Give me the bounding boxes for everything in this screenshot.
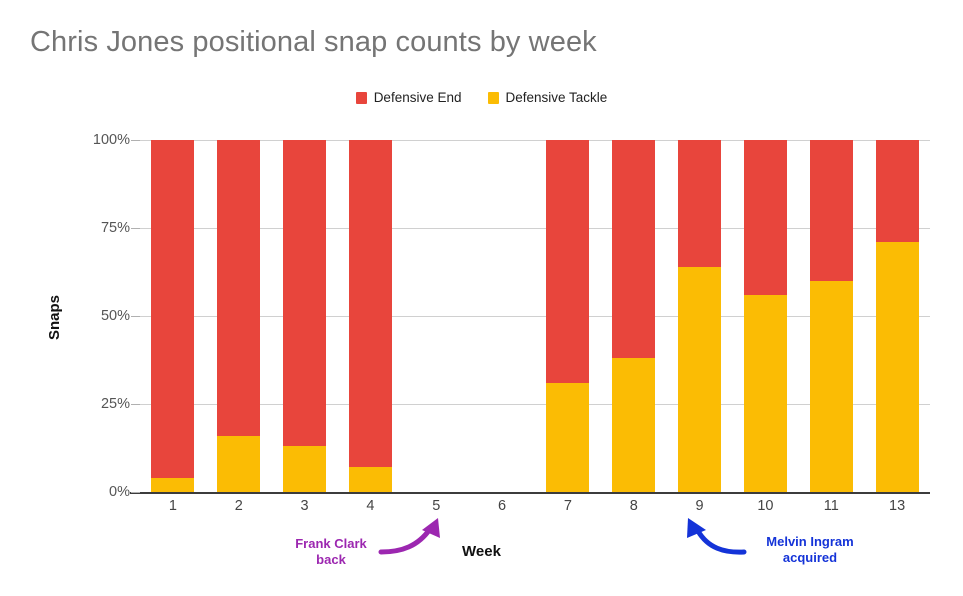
bar-segment-defensive-end[interactable] xyxy=(546,140,589,383)
legend-swatch-defensive-tackle xyxy=(488,92,499,104)
x-axis-tick-label-3: 3 xyxy=(275,498,335,514)
bar-segment-defensive-tackle[interactable] xyxy=(678,267,721,492)
bar-week-7[interactable] xyxy=(546,140,589,492)
y-axis-tick-labels: 0%25%50%75%100% xyxy=(20,140,130,492)
bar-segment-defensive-tackle[interactable] xyxy=(744,295,787,492)
annotation-frank-clark: Frank Clark back xyxy=(283,536,379,569)
bar-segment-defensive-tackle[interactable] xyxy=(283,446,326,492)
bar-segment-defensive-tackle[interactable] xyxy=(876,242,919,492)
legend-item-defensive-tackle[interactable]: Defensive Tackle xyxy=(488,90,608,105)
chart-title: Chris Jones positional snap counts by we… xyxy=(30,26,597,59)
y-axis-tick-label: 75% xyxy=(30,220,130,236)
bar-week-8[interactable] xyxy=(612,140,655,492)
legend-swatch-defensive-end xyxy=(356,92,367,104)
bar-week-9[interactable] xyxy=(678,140,721,492)
bar-segment-defensive-end[interactable] xyxy=(810,140,853,281)
x-axis-tick-label-13: 13 xyxy=(867,498,927,514)
chart-container: Chris Jones positional snap counts by we… xyxy=(0,0,963,596)
x-axis-tick-label-7: 7 xyxy=(538,498,598,514)
bar-segment-defensive-end[interactable] xyxy=(612,140,655,358)
legend-item-defensive-end[interactable]: Defensive End xyxy=(356,90,462,105)
x-axis-tick-label-11: 11 xyxy=(801,498,861,514)
x-axis-tick-label-6: 6 xyxy=(472,498,532,514)
x-axis-tick-label-10: 10 xyxy=(735,498,795,514)
bar-segment-defensive-end[interactable] xyxy=(744,140,787,295)
bar-segment-defensive-tackle[interactable] xyxy=(810,281,853,492)
y-axis-tick xyxy=(131,492,140,493)
y-axis-tick xyxy=(131,404,140,405)
y-axis-tick xyxy=(131,140,140,141)
plot-area xyxy=(140,140,930,492)
bar-week-4[interactable] xyxy=(349,140,392,492)
y-axis-tick xyxy=(131,316,140,317)
y-axis-tick-label: 0% xyxy=(30,484,130,500)
chart-legend: Defensive End Defensive Tackle xyxy=(0,90,963,105)
x-axis-tick-label-1: 1 xyxy=(143,498,203,514)
y-axis-tick-label: 50% xyxy=(30,308,130,324)
annotation-arrow-frank-clark xyxy=(378,516,450,562)
bar-segment-defensive-tackle[interactable] xyxy=(546,383,589,492)
bar-segment-defensive-end[interactable] xyxy=(283,140,326,446)
bar-segment-defensive-end[interactable] xyxy=(151,140,194,478)
legend-label-defensive-tackle: Defensive Tackle xyxy=(506,90,608,105)
x-axis-line xyxy=(130,492,930,494)
bar-segment-defensive-tackle[interactable] xyxy=(349,467,392,492)
bar-week-10[interactable] xyxy=(744,140,787,492)
bar-week-13[interactable] xyxy=(876,140,919,492)
x-axis-tick-label-2: 2 xyxy=(209,498,269,514)
bar-week-2[interactable] xyxy=(217,140,260,492)
annotation-melvin-ingram: Melvin Ingram acquired xyxy=(748,534,872,567)
bar-week-11[interactable] xyxy=(810,140,853,492)
bar-segment-defensive-end[interactable] xyxy=(349,140,392,467)
legend-label-defensive-end: Defensive End xyxy=(374,90,462,105)
bar-week-1[interactable] xyxy=(151,140,194,492)
bar-segment-defensive-end[interactable] xyxy=(217,140,260,436)
annotation-arrow-melvin-ingram xyxy=(678,516,750,562)
bar-segment-defensive-tackle[interactable] xyxy=(612,358,655,492)
bar-week-3[interactable] xyxy=(283,140,326,492)
bar-segment-defensive-tackle[interactable] xyxy=(151,478,194,492)
y-axis-tick-label: 100% xyxy=(30,132,130,148)
x-axis-tick-label-8: 8 xyxy=(604,498,664,514)
x-axis-tick-label-9: 9 xyxy=(670,498,730,514)
x-axis-tick-label-4: 4 xyxy=(340,498,400,514)
y-axis-tick-label: 25% xyxy=(30,396,130,412)
x-axis-tick-label-5: 5 xyxy=(406,498,466,514)
bar-segment-defensive-end[interactable] xyxy=(678,140,721,267)
y-axis-tick xyxy=(131,228,140,229)
bar-segment-defensive-end[interactable] xyxy=(876,140,919,242)
bar-segment-defensive-tackle[interactable] xyxy=(217,436,260,492)
